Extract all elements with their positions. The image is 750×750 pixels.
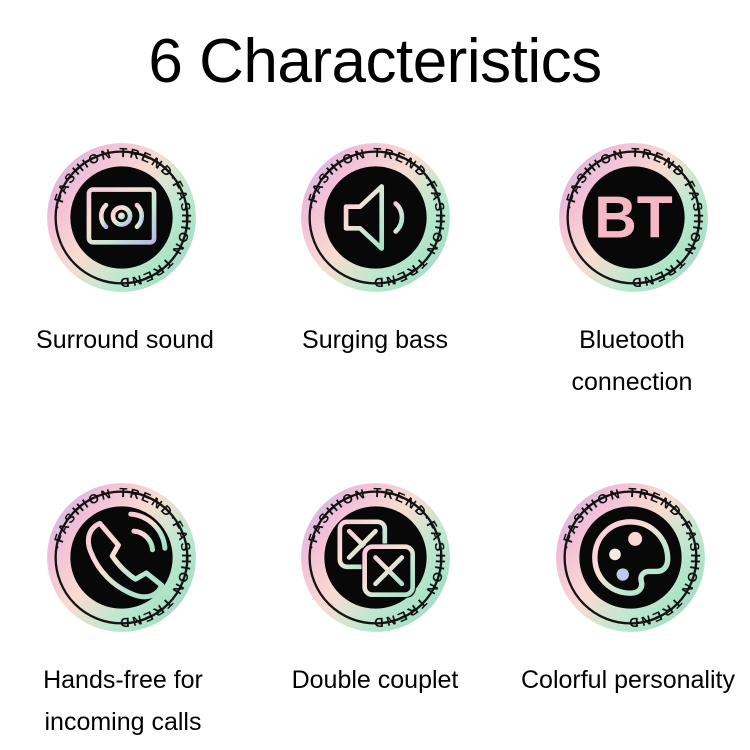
badge-double-couplet[interactable]: ·FASHION TREND·FASHION TREND bbox=[298, 480, 453, 635]
feature-row-top: ·FASHION TREND·FASHION TREND Surround so… bbox=[0, 140, 750, 480]
paint-palette-icon: ·FASHION TREND·FASHION TREND bbox=[553, 480, 708, 635]
phone-call-icon: ·FASHION TREND·FASHION TREND bbox=[44, 480, 199, 635]
badge-colorful-personality[interactable]: ·FASHION TREND·FASHION TREND bbox=[553, 480, 708, 635]
page-title: 6 Characteristics bbox=[0, 0, 750, 96]
feature-card-surround-sound[interactable]: ·FASHION TREND·FASHION TREND Surround so… bbox=[0, 140, 250, 361]
speaker-volume-icon: ·FASHION TREND·FASHION TREND bbox=[298, 140, 453, 295]
bt-text-icon: ·FASHION TREND·FASHION TREND BT bbox=[556, 140, 711, 295]
bt-label: BT bbox=[594, 186, 673, 251]
feature-caption: Surround sound bbox=[0, 319, 250, 361]
feature-row-bottom: ·FASHION TREND·FASHION TREND Hands-free … bbox=[0, 480, 750, 743]
feature-caption: Bluetooth connection bbox=[500, 319, 750, 403]
badge-surround-sound[interactable]: ·FASHION TREND·FASHION TREND bbox=[44, 140, 199, 295]
double-square-x-icon: ·FASHION TREND·FASHION TREND bbox=[298, 480, 453, 635]
feature-grid: ·FASHION TREND·FASHION TREND Surround so… bbox=[0, 140, 750, 743]
feature-caption: Double couplet bbox=[250, 659, 500, 701]
surround-sound-icon: ·FASHION TREND·FASHION TREND bbox=[44, 140, 199, 295]
feature-card-colorful-personality[interactable]: ·FASHION TREND·FASHION TREND Colorful pe… bbox=[500, 480, 750, 701]
feature-card-bluetooth[interactable]: ·FASHION TREND·FASHION TREND BT Bluetoot… bbox=[500, 140, 750, 403]
feature-card-surging-bass[interactable]: ·FASHION TREND·FASHION TREND Surging bas… bbox=[250, 140, 500, 361]
feature-caption: Hands-free for incoming calls bbox=[0, 659, 248, 743]
feature-caption: Colorful personality bbox=[496, 659, 750, 701]
feature-card-double-couplet[interactable]: ·FASHION TREND·FASHION TREND Double bbox=[250, 480, 500, 701]
feature-caption: Surging bass bbox=[250, 319, 500, 361]
badge-surging-bass[interactable]: ·FASHION TREND·FASHION TREND bbox=[298, 140, 453, 295]
badge-bluetooth[interactable]: ·FASHION TREND·FASHION TREND BT bbox=[556, 140, 711, 295]
badge-hands-free[interactable]: ·FASHION TREND·FASHION TREND bbox=[44, 480, 199, 635]
feature-card-hands-free[interactable]: ·FASHION TREND·FASHION TREND Hands-free … bbox=[0, 480, 250, 743]
